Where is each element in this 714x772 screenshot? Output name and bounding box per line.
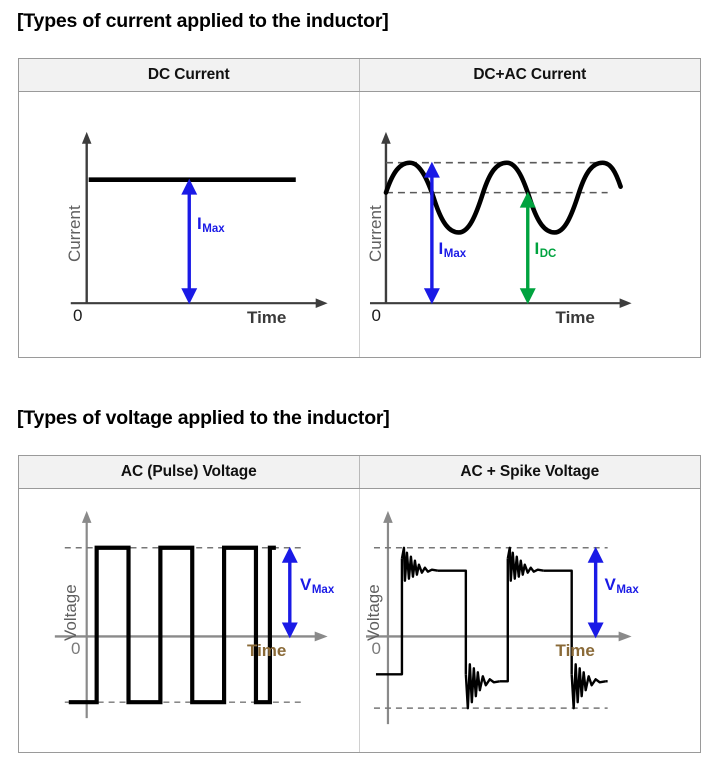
imax-label: IMax [197,215,224,233]
ac-spike-waveform [375,548,607,708]
panel-ac-spike-voltage: Voltage Time 0 VMax [360,489,701,752]
header-dc-current: DC Current [19,59,360,91]
panel-ac-pulse-voltage: Voltage Time 0 VMax [19,489,360,752]
imax-symbol: I [439,239,444,258]
origin-label: 0 [372,639,381,659]
imax-subscript: Max [444,248,466,260]
y-axis-arrowhead [383,511,393,523]
header-ac-pulse-voltage: AC (Pulse) Voltage [19,456,360,488]
x-axis-label: Time [247,308,286,328]
origin-label: 0 [372,306,381,326]
voltage-table-header: AC (Pulse) Voltage AC + Spike Voltage [19,456,700,489]
vmax-label: VMax [605,576,639,594]
idc-arrowhead-up [519,192,535,208]
section-heading-voltage: [Types of voltage applied to the inducto… [17,407,390,430]
current-table: DC Current DC+AC Current [18,58,701,358]
x-axis-arrowhead [619,298,631,308]
imax-arrowhead-down [181,288,197,304]
y-axis-label: Current [366,205,386,262]
ac-pulse-waveform [69,548,276,702]
panel-dc-ac-current: Current Time 0 IMax IDC [360,92,701,357]
vmax-symbol: V [300,575,311,594]
imax-subscript: Max [202,223,224,235]
vmax-symbol: V [605,575,616,594]
vmax-subscript: Max [616,584,638,596]
x-axis-label: Time [556,641,595,661]
y-axis-arrowhead [82,132,92,144]
idc-label: IDC [535,240,556,258]
voltage-table-body: Voltage Time 0 VMax [19,489,700,752]
vmax-arrowhead-up [587,547,603,563]
dc-ac-current-waveform [385,163,620,233]
ac-spike-voltage-chart [360,489,701,752]
vmax-arrowhead-up [282,547,298,563]
imax-arrowhead-down [423,288,439,304]
vmax-label: VMax [300,576,334,594]
header-ac-spike-voltage: AC + Spike Voltage [360,456,701,488]
current-table-body: Current Time 0 IMax [19,92,700,357]
x-axis-arrowhead [315,631,328,641]
y-axis-label: Voltage [61,584,81,641]
panel-dc-current: Current Time 0 IMax [19,92,360,357]
current-table-header: DC Current DC+AC Current [19,59,700,92]
y-axis-label: Voltage [364,584,384,641]
imax-label: IMax [439,240,466,258]
y-axis-arrowhead [82,511,92,523]
idc-subscript: DC [540,248,557,260]
origin-label: 0 [73,306,82,326]
x-axis-label: Time [556,308,595,328]
diagram-page: [Types of current applied to the inducto… [0,0,714,772]
imax-arrowhead-up [423,162,439,178]
header-dc-ac-current: DC+AC Current [360,59,701,91]
y-axis-arrowhead [381,132,391,144]
x-axis-arrowhead [316,298,328,308]
dc-ac-current-chart [360,92,701,357]
voltage-table: AC (Pulse) Voltage AC + Spike Voltage [18,455,701,753]
idc-arrowhead-down [519,288,535,304]
vmax-subscript: Max [312,584,334,596]
x-axis-arrowhead [618,631,631,641]
y-axis-label: Current [65,205,85,262]
x-axis-label: Time [247,641,286,661]
idc-symbol: I [535,239,540,258]
origin-label: 0 [71,639,80,659]
section-heading-current: [Types of current applied to the inducto… [17,10,389,33]
